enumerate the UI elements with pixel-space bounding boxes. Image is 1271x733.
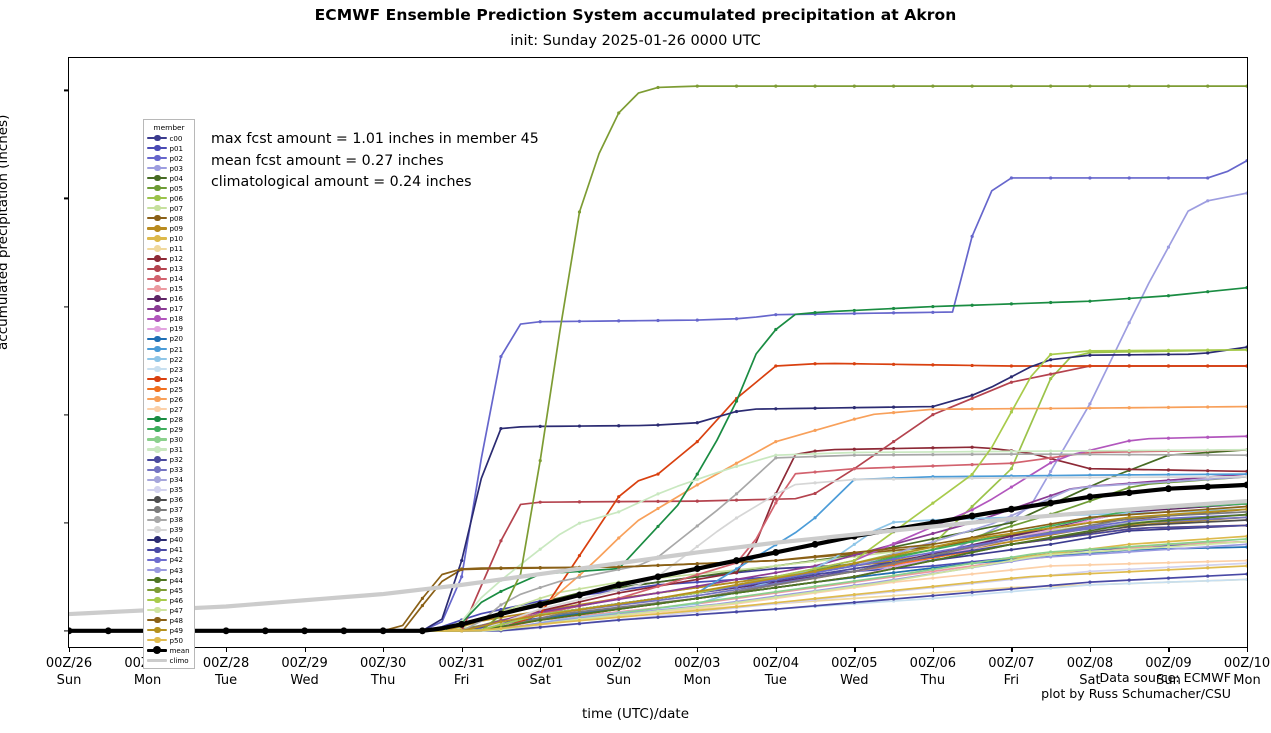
series-marker	[774, 608, 777, 611]
series-marker	[1010, 476, 1013, 479]
series-marker	[1204, 483, 1211, 490]
series-marker	[1167, 480, 1170, 483]
series-marker	[1010, 543, 1013, 546]
legend-swatch-icon	[147, 394, 167, 404]
series-p06	[69, 348, 1247, 632]
series-marker	[499, 627, 502, 630]
legend-item-p20[interactable]: p20	[147, 334, 191, 344]
legend-item-p37[interactable]: p37	[147, 505, 191, 515]
legend-item-p01[interactable]: p01	[147, 143, 191, 153]
x-tick-time: 00Z/28	[203, 656, 249, 671]
x-tick-day: Sun	[606, 673, 631, 688]
series-marker	[892, 554, 895, 557]
series-marker	[578, 576, 581, 579]
legend-label: p45	[167, 586, 183, 595]
legend-label: p13	[167, 264, 183, 273]
series-marker	[892, 594, 895, 597]
series-marker	[1088, 467, 1091, 470]
series-marker	[1167, 513, 1170, 516]
legend-item-p15[interactable]: p15	[147, 284, 191, 294]
x-tick-mark	[305, 647, 306, 652]
legend-label: p25	[167, 385, 183, 394]
series-marker	[578, 598, 581, 601]
legend-item-p40[interactable]: p40	[147, 535, 191, 545]
legend-item-p22[interactable]: p22	[147, 354, 191, 364]
legend-item-p50[interactable]: p50	[147, 635, 191, 645]
legend-label: p32	[167, 455, 183, 464]
legend-swatch-icon	[147, 334, 167, 344]
x-tick-time: 00Z/08	[1067, 656, 1113, 671]
legend-label: p16	[167, 294, 183, 303]
legend-item-p30[interactable]: p30	[147, 434, 191, 444]
series-marker	[1128, 516, 1131, 519]
legend-item-p43[interactable]: p43	[147, 565, 191, 575]
legend-swatch-icon	[147, 223, 167, 233]
series-marker	[735, 571, 738, 574]
series-marker	[1088, 563, 1091, 566]
series-marker	[1245, 508, 1247, 511]
series-marker	[1167, 349, 1170, 352]
series-marker	[971, 304, 974, 307]
series-marker	[1049, 176, 1052, 179]
series-marker	[1128, 364, 1131, 367]
series-marker	[931, 545, 934, 548]
legend-swatch-icon	[147, 645, 167, 655]
legend-label: p09	[167, 224, 183, 233]
x-tick-label: 00Z/06Thu	[910, 655, 956, 689]
series-marker	[1128, 321, 1131, 324]
legend-item-p33[interactable]: p33	[147, 465, 191, 475]
legend-label: p43	[167, 566, 183, 575]
legend-item-p35[interactable]: p35	[147, 485, 191, 495]
legend-item-p06[interactable]: p06	[147, 193, 191, 203]
legend-item-p18[interactable]: p18	[147, 314, 191, 324]
series-marker	[1088, 529, 1091, 532]
legend-swatch-icon	[147, 254, 167, 264]
legend-item-p21[interactable]: p21	[147, 344, 191, 354]
legend-swatch-icon	[147, 203, 167, 213]
series-marker	[1010, 587, 1013, 590]
legend-swatch-icon	[147, 475, 167, 485]
legend-item-p11[interactable]: p11	[147, 244, 191, 254]
series-marker	[696, 524, 699, 527]
legend-swatch-icon	[147, 364, 167, 374]
x-tick-mark	[697, 647, 698, 652]
series-marker	[1128, 520, 1131, 523]
series-marker	[971, 477, 974, 480]
series-marker	[735, 462, 738, 465]
legend-item-p12[interactable]: p12	[147, 254, 191, 264]
x-tick-label: 00Z/02Sun	[596, 655, 642, 689]
legend-swatch-icon	[147, 324, 167, 334]
series-marker	[931, 477, 934, 480]
series-marker	[539, 548, 542, 551]
series-marker	[1049, 85, 1052, 88]
legend-item-p34[interactable]: p34	[147, 475, 191, 485]
legend-swatch-icon	[147, 455, 167, 465]
legend-item-c00[interactable]: c00	[147, 133, 191, 143]
legend-item-p28[interactable]: p28	[147, 414, 191, 424]
legend[interactable]: member c00p01p02p03p04p05p06p07p08p09p10…	[143, 119, 195, 669]
series-marker	[853, 362, 856, 365]
legend-label: p46	[167, 596, 183, 605]
series-marker	[105, 627, 112, 634]
legend-item-p45[interactable]: p45	[147, 585, 191, 595]
series-marker	[1206, 351, 1209, 354]
series-marker	[1049, 476, 1052, 479]
series-marker	[656, 472, 659, 475]
series-marker	[735, 591, 738, 594]
series-marker	[656, 525, 659, 528]
x-tick-day: Fri	[454, 673, 470, 688]
series-marker	[1245, 572, 1247, 575]
x-tick-label: 00Z/03Mon	[674, 655, 720, 689]
series-marker	[1167, 176, 1170, 179]
series-marker	[774, 501, 777, 504]
series-marker	[853, 543, 856, 546]
x-tick-day: Tue	[215, 673, 237, 688]
legend-item-p29[interactable]: p29	[147, 424, 191, 434]
legend-item-p44[interactable]: p44	[147, 575, 191, 585]
series-marker	[1167, 545, 1170, 548]
series-marker	[1245, 540, 1247, 543]
series-marker	[617, 319, 620, 322]
legend-swatch-icon	[147, 655, 167, 665]
series-marker	[971, 566, 974, 569]
series-marker	[1049, 373, 1052, 376]
series-marker	[1049, 553, 1052, 556]
legend-swatch-icon	[147, 284, 167, 294]
series-marker	[578, 554, 581, 557]
series-marker	[578, 522, 581, 525]
series-marker	[931, 568, 934, 571]
series-marker	[971, 473, 974, 476]
x-tick-day: Mon	[1233, 673, 1260, 688]
series-p02	[69, 159, 1247, 632]
series-marker	[1049, 301, 1052, 304]
legend-label: p27	[167, 405, 183, 414]
legend-label: p38	[167, 515, 183, 524]
series-marker	[774, 328, 777, 331]
x-tick-mark	[226, 647, 227, 652]
series-marker	[813, 581, 816, 584]
series-marker	[892, 558, 895, 561]
series-marker	[1008, 506, 1015, 513]
series-marker	[419, 627, 426, 634]
legend-swatch-icon	[147, 173, 167, 183]
series-marker	[696, 609, 699, 612]
series-marker	[696, 597, 699, 600]
x-tick-day: Wed	[290, 673, 318, 688]
y-tick-mark	[64, 630, 69, 631]
series-marker	[735, 605, 738, 608]
legend-label: p48	[167, 616, 183, 625]
series-marker	[1206, 448, 1209, 451]
series-marker	[853, 418, 856, 421]
series-marker	[971, 364, 974, 367]
series-marker	[578, 613, 581, 616]
series-marker	[1128, 582, 1131, 585]
series-marker	[1206, 436, 1209, 439]
series-marker	[931, 572, 934, 575]
series-marker	[931, 446, 934, 449]
series-marker	[696, 85, 699, 88]
legend-item-p05[interactable]: p05	[147, 183, 191, 193]
series-marker	[1088, 354, 1091, 357]
series-marker	[617, 608, 620, 611]
series-marker	[696, 318, 699, 321]
series-marker	[1088, 364, 1091, 367]
series-marker	[656, 423, 659, 426]
series-marker	[774, 456, 777, 459]
chart-root: ECMWF Ensemble Prediction System accumul…	[0, 0, 1271, 733]
series-marker	[1206, 475, 1209, 478]
legend-item-p09[interactable]: p09	[147, 223, 191, 233]
series-marker	[1206, 560, 1209, 563]
legend-item-p24[interactable]: p24	[147, 374, 191, 384]
series-marker	[1128, 562, 1131, 565]
series-marker	[1010, 452, 1013, 455]
legend-label: p35	[167, 485, 183, 494]
series-marker	[1165, 485, 1172, 492]
legend-item-p48[interactable]: p48	[147, 615, 191, 625]
legend-label: p23	[167, 365, 183, 374]
series-marker	[1010, 556, 1013, 559]
series-marker	[617, 424, 620, 427]
series-marker	[931, 585, 934, 588]
series-marker	[813, 516, 816, 519]
legend-swatch-icon	[147, 575, 167, 585]
series-marker	[1128, 483, 1131, 486]
series-marker	[735, 610, 738, 613]
x-tick-time: 00Z/30	[360, 656, 406, 671]
series-marker	[380, 627, 387, 634]
legend-item-p49[interactable]: p49	[147, 625, 191, 635]
series-marker	[971, 505, 974, 508]
series-marker	[1049, 364, 1052, 367]
series-marker	[774, 85, 777, 88]
legend-label: p42	[167, 555, 183, 564]
series-marker	[460, 559, 463, 562]
series-marker	[1128, 297, 1131, 300]
legend-label: p29	[167, 425, 183, 434]
series-marker	[1206, 199, 1209, 202]
series-marker	[813, 429, 816, 432]
x-tick-day: Sun	[57, 673, 82, 688]
series-marker	[696, 421, 699, 424]
series-marker	[931, 85, 934, 88]
series-marker	[1088, 300, 1091, 303]
series-marker	[69, 627, 72, 634]
series-marker	[696, 585, 699, 588]
series-marker	[696, 573, 699, 576]
series-marker	[617, 588, 620, 591]
series-marker	[1128, 522, 1131, 525]
legend-item-p42[interactable]: p42	[147, 555, 191, 565]
series-marker	[1128, 406, 1131, 409]
x-tick-time: 00Z/29	[281, 656, 327, 671]
series-marker	[656, 581, 659, 584]
legend-label: p20	[167, 334, 183, 343]
series-marker	[696, 472, 699, 475]
series-marker	[656, 612, 659, 615]
legend-item-p17[interactable]: p17	[147, 304, 191, 314]
legend-swatch-icon	[147, 595, 167, 605]
legend-item-p31[interactable]: p31	[147, 444, 191, 454]
y-tick-mark	[64, 198, 69, 199]
series-marker	[1088, 449, 1091, 452]
series-marker	[813, 470, 816, 473]
x-tick-time: 00Z/07	[988, 656, 1034, 671]
series-marker	[617, 495, 620, 498]
series-marker	[656, 585, 659, 588]
legend-item-p38[interactable]: p38	[147, 515, 191, 525]
legend-label: p36	[167, 495, 183, 504]
legend-item-p04[interactable]: p04	[147, 173, 191, 183]
series-marker	[853, 551, 856, 554]
legend-item-climo[interactable]: climo	[147, 655, 191, 665]
x-tick-label: 00Z/05Wed	[831, 655, 877, 689]
legend-label: p21	[167, 345, 183, 354]
series-marker	[853, 601, 856, 604]
series-marker	[853, 478, 856, 481]
series-marker	[892, 579, 895, 582]
legend-label: p08	[167, 214, 183, 223]
series-marker	[735, 465, 738, 468]
series-marker	[460, 567, 463, 570]
series-marker	[617, 111, 620, 114]
series-marker	[617, 602, 620, 605]
series-marker	[1010, 524, 1013, 527]
x-tick-label: 00Z/28Tue	[203, 655, 249, 689]
series-marker	[931, 464, 934, 467]
legend-item-p07[interactable]: p07	[147, 203, 191, 213]
legend-item-p32[interactable]: p32	[147, 455, 191, 465]
legend-item-p36[interactable]: p36	[147, 495, 191, 505]
series-marker	[539, 566, 542, 569]
legend-item-p13[interactable]: p13	[147, 264, 191, 274]
series-marker	[539, 626, 542, 629]
legend-swatch-icon	[147, 555, 167, 565]
legend-rows: c00p01p02p03p04p05p06p07p08p09p10p11p12p…	[147, 133, 191, 665]
series-marker	[1167, 406, 1170, 409]
series-marker	[1088, 581, 1091, 584]
legend-item-p23[interactable]: p23	[147, 364, 191, 374]
series-marker	[539, 320, 542, 323]
legend-item-p41[interactable]: p41	[147, 545, 191, 555]
series-marker	[1245, 405, 1247, 408]
legend-item-p25[interactable]: p25	[147, 384, 191, 394]
x-tick-mark	[540, 647, 541, 652]
legend-label: p47	[167, 606, 183, 615]
legend-item-p16[interactable]: p16	[147, 294, 191, 304]
series-marker	[931, 405, 934, 408]
legend-item-p19[interactable]: p19	[147, 324, 191, 334]
series-marker	[931, 413, 934, 416]
legend-swatch-icon	[147, 314, 167, 324]
series-marker	[735, 400, 738, 403]
series-marker	[1245, 518, 1247, 521]
series-marker	[696, 440, 699, 443]
series-marker	[853, 309, 856, 312]
series-marker	[971, 394, 974, 397]
legend-item-mean[interactable]: mean	[147, 645, 191, 655]
legend-item-p02[interactable]: p02	[147, 153, 191, 163]
legend-label: p10	[167, 234, 183, 243]
legend-item-p46[interactable]: p46	[147, 595, 191, 605]
series-marker	[617, 598, 620, 601]
series-marker	[1206, 364, 1209, 367]
series-marker	[1088, 402, 1091, 405]
legend-swatch-icon	[147, 605, 167, 615]
annotation-mean: mean fcst amount = 0.27 inches	[211, 151, 539, 173]
series-marker	[813, 311, 816, 314]
legend-item-p26[interactable]: p26	[147, 394, 191, 404]
legend-label: p49	[167, 626, 183, 635]
series-marker	[1088, 516, 1091, 519]
series-marker	[971, 562, 974, 565]
series-marker	[813, 577, 816, 580]
credit-source: Data source: ECMWF	[1100, 670, 1231, 685]
legend-item-p08[interactable]: p08	[147, 213, 191, 223]
legend-item-p03[interactable]: p03	[147, 163, 191, 173]
series-marker	[735, 492, 738, 495]
series-marker	[971, 581, 974, 584]
series-marker	[578, 500, 581, 503]
series-marker	[853, 593, 856, 596]
legend-label: p04	[167, 174, 183, 183]
series-marker	[421, 597, 424, 600]
series-marker	[1167, 519, 1170, 522]
series-marker	[1245, 513, 1247, 516]
legend-item-p14[interactable]: p14	[147, 274, 191, 284]
series-marker	[578, 604, 581, 607]
legend-label: p41	[167, 545, 183, 554]
series-marker	[892, 406, 895, 409]
series-marker	[971, 463, 974, 466]
legend-label: p44	[167, 576, 183, 585]
series-marker	[971, 85, 974, 88]
legend-item-p27[interactable]: p27	[147, 404, 191, 414]
series-marker	[892, 477, 895, 480]
series-marker	[1010, 381, 1013, 384]
series-marker	[931, 559, 934, 562]
series-marker	[696, 483, 699, 486]
series-marker	[1049, 564, 1052, 567]
legend-item-p39[interactable]: p39	[147, 525, 191, 535]
x-tick-mark	[776, 647, 777, 652]
series-marker	[1167, 561, 1170, 564]
legend-swatch-icon	[147, 384, 167, 394]
series-marker	[931, 532, 934, 535]
series-marker	[617, 591, 620, 594]
series-p46	[69, 348, 1247, 632]
series-marker	[971, 572, 974, 575]
series-marker	[499, 355, 502, 358]
legend-label: p06	[167, 194, 183, 203]
x-tick-mark	[1090, 647, 1091, 652]
series-marker	[931, 537, 934, 540]
series-marker	[1010, 364, 1013, 367]
series-marker	[1167, 353, 1170, 356]
legend-swatch-icon	[147, 424, 167, 434]
series-marker	[1167, 476, 1170, 479]
legend-item-p47[interactable]: p47	[147, 605, 191, 615]
series-marker	[735, 410, 738, 413]
series-line	[69, 350, 1247, 631]
x-tick-time: 00Z/09	[1145, 656, 1191, 671]
legend-item-p10[interactable]: p10	[147, 233, 191, 243]
